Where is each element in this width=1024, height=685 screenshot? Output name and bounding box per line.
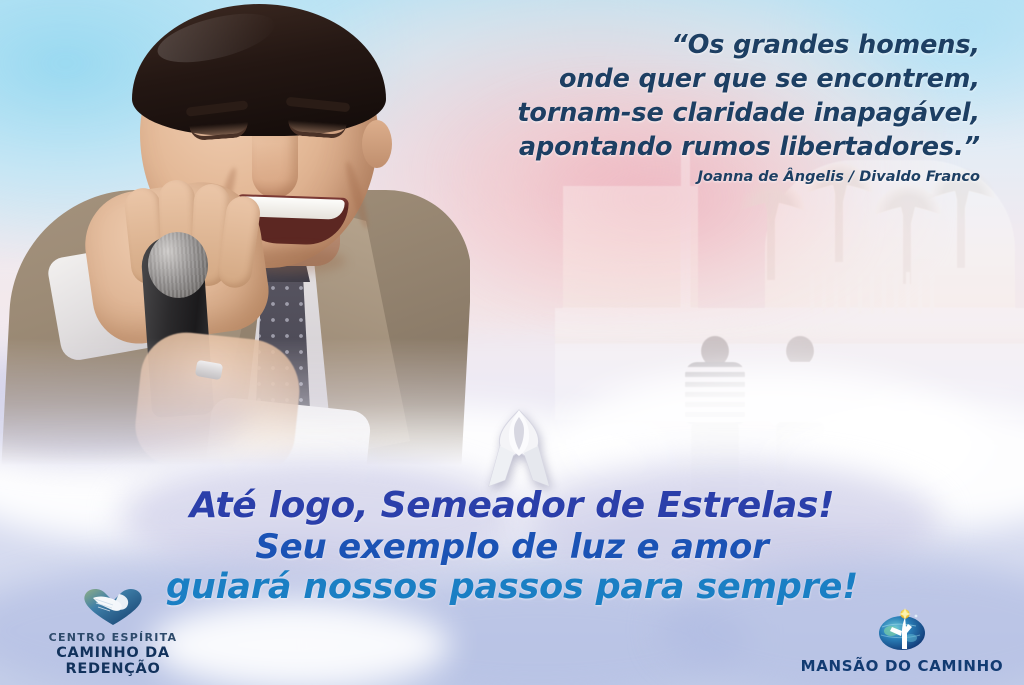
globe-with-figure-icon	[792, 607, 1012, 655]
portrait-hair	[132, 4, 386, 136]
memorial-poster: “Os grandes homens, onde quer que se enc…	[0, 0, 1024, 685]
quote-line-3: tornam-se claridade inapagável,	[440, 96, 980, 130]
portrait-photo	[0, 0, 470, 470]
logo-right-line-1: MANSÃO DO CAMINHO	[792, 657, 1012, 675]
quote-line-4: apontando rumos libertadores.”	[440, 130, 980, 164]
logo-left-line-2: CAMINHO DA REDENÇÃO	[8, 645, 218, 677]
portrait-ear	[362, 120, 392, 168]
background-fence	[810, 272, 940, 314]
quote-line-2: onde quer que se encontrem,	[440, 62, 980, 96]
headline-line-1: Até logo, Semeador de Estrelas!	[0, 487, 1024, 526]
quote-attribution: Joanna de Ângelis / Divaldo Franco	[440, 169, 980, 185]
quote-line-1: “Os grandes homens,	[440, 28, 980, 62]
background-building-secondary	[563, 186, 698, 310]
headline-line-2: Seu exemplo de luz e amor	[0, 529, 1024, 566]
portrait-lower-hand	[131, 328, 304, 478]
mourning-ribbon-icon	[483, 408, 555, 494]
portrait-nose	[252, 136, 298, 198]
quote-block: “Os grandes homens, onde quer que se enc…	[440, 28, 980, 164]
heart-with-clasping-hands-icon	[8, 586, 218, 630]
logo-left-line-1: CENTRO ESPÍRITA	[8, 631, 218, 644]
logo-mansao-do-caminho: MANSÃO DO CAMINHO	[792, 607, 1012, 675]
logo-centro-espirita: CENTRO ESPÍRITA CAMINHO DA REDENÇÃO	[8, 586, 218, 677]
